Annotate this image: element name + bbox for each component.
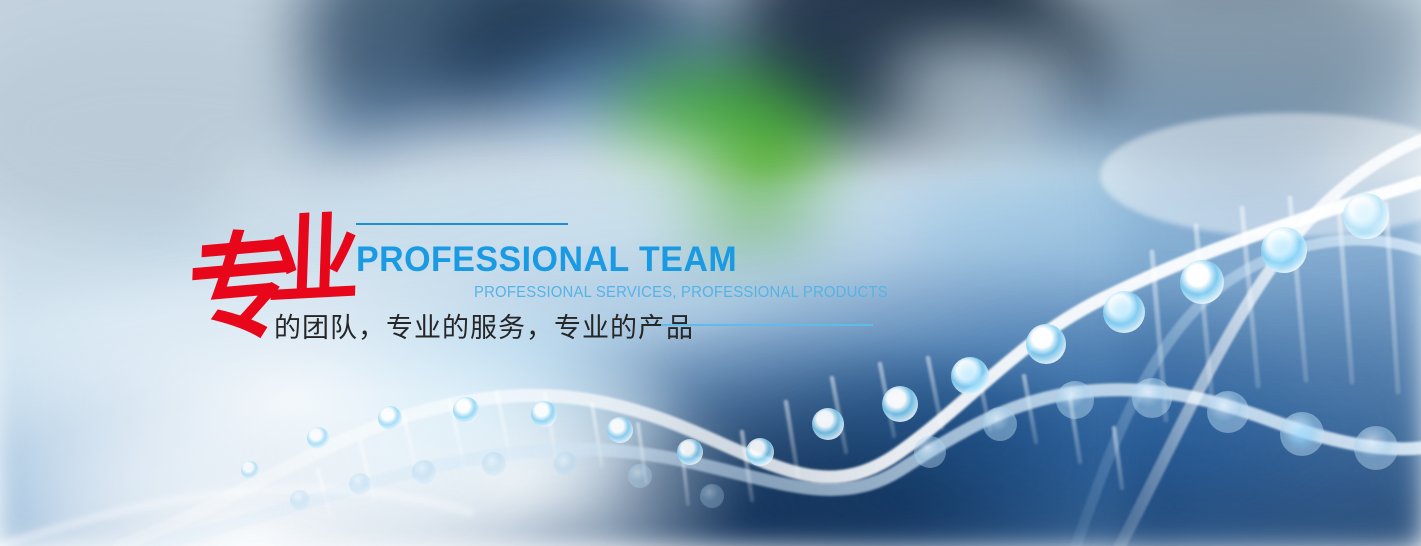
subheadline-services-products: PROFESSIONAL SERVICES, PROFESSIONAL PROD… (474, 284, 888, 302)
chinese-tagline: 的团队，专业的服务，专业的产品 (274, 306, 694, 345)
rule-above-headline (356, 223, 568, 225)
rule-below-tagline (661, 324, 873, 326)
headline-professional-team: PROFESSIONAL TEAM (356, 240, 737, 280)
hero-banner: 专 业 PROFESSIONAL TEAM PROFESSIONAL SERVI… (0, 0, 1421, 546)
calligraphy-char-ye: 业 (266, 209, 362, 310)
banner-text-block: 专 业 PROFESSIONAL TEAM PROFESSIONAL SERVI… (0, 0, 1421, 546)
